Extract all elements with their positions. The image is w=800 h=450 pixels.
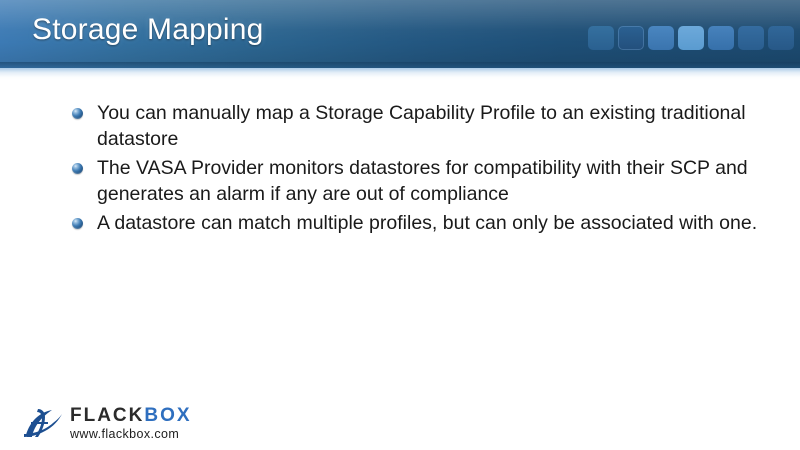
logo-word-flack: FLACK [70, 405, 144, 426]
logo-word-box: BOX [144, 405, 191, 426]
bullet-list: You can manually map a Storage Capabilit… [72, 100, 762, 239]
bullet-sphere-icon [72, 218, 83, 229]
logo-wordmark: FLACKBOX [70, 406, 192, 425]
bullet-sphere-icon [72, 163, 83, 174]
header-square-7 [768, 26, 794, 50]
header-square-2 [618, 26, 644, 50]
page-title: Storage Mapping [32, 13, 264, 47]
header-squares-group [588, 26, 794, 50]
header-square-6 [738, 26, 764, 50]
bullet-sphere-icon [72, 108, 83, 119]
bullet-text: The VASA Provider monitors datastores fo… [97, 155, 762, 207]
flackbox-logo: FLACKBOX www.flackbox.com [22, 404, 192, 442]
bullet-text: You can manually map a Storage Capabilit… [97, 100, 762, 152]
header-bottom-fade [0, 68, 800, 81]
logo-url: www.flackbox.com [70, 428, 192, 441]
header-square-1 [588, 26, 614, 50]
logo-text-block: FLACKBOX www.flackbox.com [70, 406, 192, 441]
list-item: You can manually map a Storage Capabilit… [72, 100, 762, 152]
flackbox-swoosh-icon [22, 404, 66, 442]
header-square-4 [678, 26, 704, 50]
header-square-5 [708, 26, 734, 50]
header-square-3 [648, 26, 674, 50]
bullet-text: A datastore can match multiple profiles,… [97, 210, 762, 236]
list-item: The VASA Provider monitors datastores fo… [72, 155, 762, 207]
list-item: A datastore can match multiple profiles,… [72, 210, 762, 236]
presentation-slide: Storage Mapping You can manually map a S… [0, 0, 800, 450]
